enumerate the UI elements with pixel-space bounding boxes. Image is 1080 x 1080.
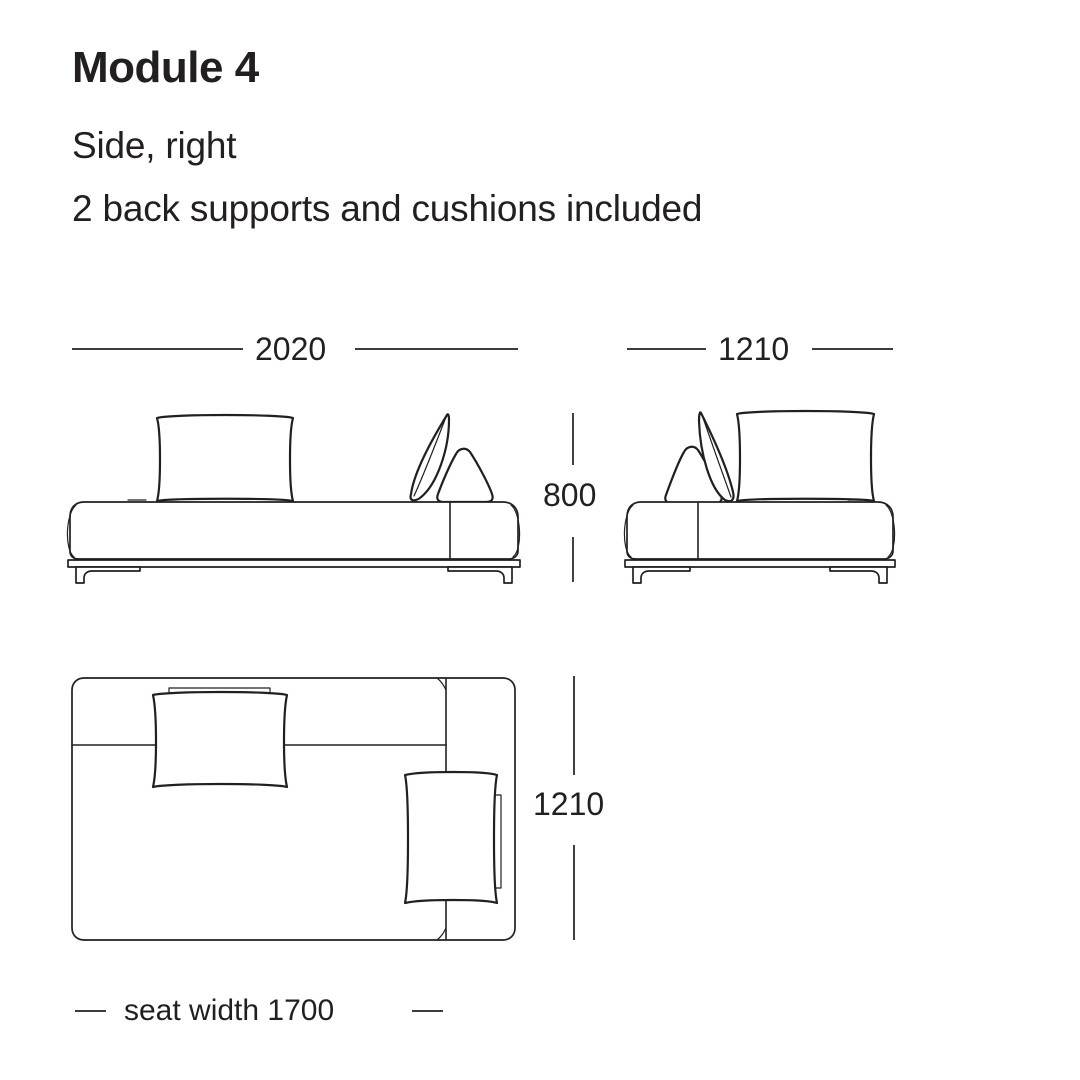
plan-vertical-cushion [405,772,497,903]
leg-right-front [448,567,512,583]
base-rail-side [625,560,895,567]
front-elevation-view [67,414,520,583]
triangular-cushion-front [437,449,492,502]
plan-view [72,678,515,940]
side-elevation-view [624,411,895,583]
seat-body-side [627,502,893,559]
leg-left-side [633,567,690,583]
leg-left-front [76,567,140,583]
base-rail-front [68,560,520,567]
technical-drawing-svg [0,0,1080,1080]
drawing-sheet: Module 4 Side, right 2 back supports and… [0,0,1080,1080]
leg-right-side [830,567,887,583]
plan-horizontal-cushion [153,692,287,787]
square-back-cushion-side [737,411,874,501]
square-back-cushion-front [157,415,293,501]
